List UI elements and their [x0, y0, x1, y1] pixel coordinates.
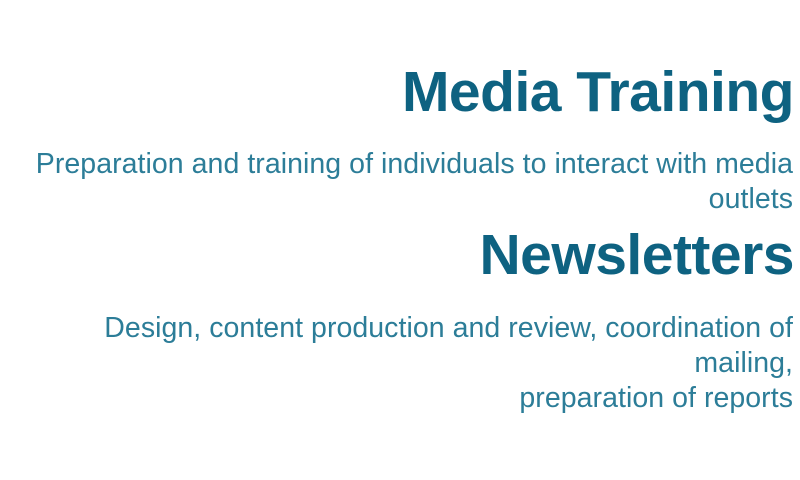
service-description-line: Design, content production and review, c…	[0, 311, 793, 381]
service-block-newsletters: Newsletters Design, content production a…	[0, 225, 800, 416]
service-title-newsletters: Newsletters	[0, 225, 794, 285]
service-title-media-training: Media Training	[0, 62, 794, 122]
service-block-media-training: Media Training Preparation and training …	[0, 62, 800, 217]
slide-canvas: Media Training Preparation and training …	[0, 0, 800, 480]
service-description-line: Preparation and training of individuals …	[0, 147, 793, 217]
service-description-media-training: Preparation and training of individuals …	[0, 147, 794, 217]
service-description-newsletters: Design, content production and review, c…	[0, 311, 794, 416]
service-description-line: preparation of reports	[0, 381, 793, 416]
